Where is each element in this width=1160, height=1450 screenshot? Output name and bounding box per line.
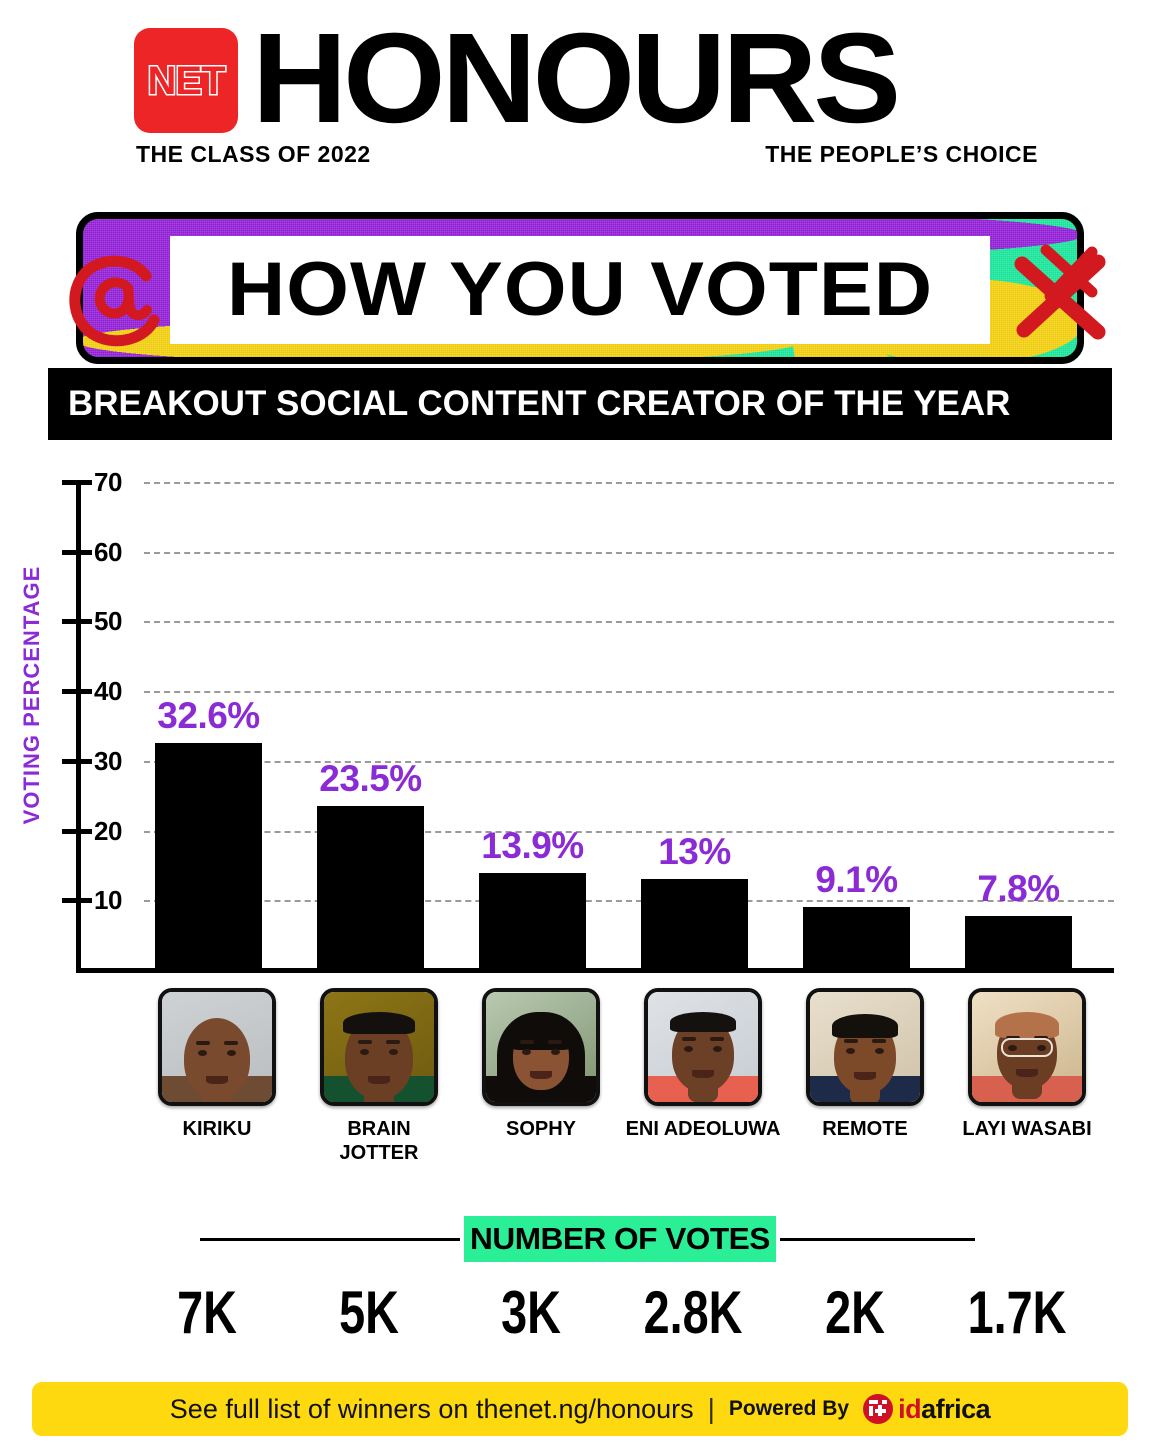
vote-count-remote: 2K [797,1278,914,1347]
masthead: NET HONOURS THE CLASS OF 2022 THE PEOPLE… [0,0,1160,180]
brow-right [224,1041,238,1045]
bar-value-label: 7.8% [977,868,1059,910]
category-bar: BREAKOUT SOCIAL CONTENT CREATOR OF THE Y… [48,368,1112,440]
net-logo-text: NET [148,61,225,101]
brow-left [682,1037,696,1041]
bar-value-label: 23.5% [319,758,421,800]
bar-value-label: 13% [658,831,731,873]
mouth [206,1076,228,1084]
brow-right [548,1040,562,1044]
mouth [530,1071,552,1079]
bar-remote: 9.1% [803,907,910,970]
headline-text: HOW YOU VOTED [227,252,933,328]
footer-separator: | [708,1393,715,1425]
nominee-name: SOPHY [479,1118,603,1142]
vote-count-eni-adeoluwa: 2.8K [635,1278,752,1347]
brow-left [196,1041,210,1045]
bar-chart: VOTING PERCENTAGE 10203040506070 32.6%23… [0,470,1160,990]
nominee-photo [158,988,276,1106]
brow-left [358,1040,372,1044]
vote-count-brain-jotter: 5K [311,1278,428,1347]
nominee-photo [806,988,924,1106]
hair-front [509,1016,573,1050]
bar-brain-jotter: 23.5% [317,806,424,970]
mouth [1016,1069,1038,1077]
brow-right [872,1039,886,1043]
vote-count-kiriku: 7K [149,1278,266,1347]
nominee-remote: REMOTE [803,988,927,1142]
brow-right [710,1037,724,1041]
votes-rule-left [200,1238,460,1241]
net-logo: NET [134,28,238,133]
hair [670,1012,736,1032]
brow-right [386,1040,400,1044]
idafrica-mark-icon [863,1394,893,1424]
idafrica-logo: idafrica [863,1394,990,1425]
nominee-kiriku: KIRIKU [155,988,279,1142]
y-axis-label: VOTING PERCENTAGE [19,515,45,875]
bar-value-label: 13.9% [481,825,583,867]
bar-series: 32.6%23.5%13.9%13%9.1%7.8% [76,482,1114,970]
votes-header: NUMBER OF VOTES [0,1216,1160,1262]
at-sign-doodle-icon [62,246,172,354]
brow-left [520,1040,534,1044]
page-title: HONOURS [252,10,897,148]
footer-bar[interactable]: See full list of winners on thenet.ng/ho… [32,1382,1128,1436]
nominee-brain-jotter: BRAIN JOTTER [317,988,441,1165]
vote-count-sophy: 3K [473,1278,590,1347]
nominee-name: BRAIN JOTTER [284,1118,474,1165]
brow-left [844,1039,858,1043]
mouth [854,1072,876,1080]
nominee-photo [320,988,438,1106]
x-mark-doodle-icon [1006,240,1118,350]
votes-rule-right [780,1238,975,1241]
headline-plate: HOW YOU VOTED [170,236,990,344]
mouth [368,1076,390,1084]
nominee-portraits: KIRIKUBRAIN JOTTERSOPHYENI ADEOLUWAREMOT… [0,988,1160,1188]
bar-layi-wasabi: 7.8% [965,916,1072,970]
vote-count-layi-wasabi: 1.7K [959,1278,1076,1347]
hair [995,1012,1059,1038]
idafrica-id-text: id [898,1394,921,1424]
bar-rect [803,907,910,970]
bar-kiriku: 32.6% [155,743,262,970]
hair [832,1014,898,1038]
hair [343,1012,415,1034]
face [184,1018,250,1099]
bar-eni-adeoluwa: 13% [641,879,748,970]
votes-label-text: NUMBER OF VOTES [470,1221,770,1257]
bar-rect [155,743,262,970]
powered-by-label: Powered By [729,1397,849,1421]
nominee-photo [644,988,762,1106]
nominee-eni-adeoluwa: ENI ADEOLUWA [641,988,765,1142]
footer-link-text[interactable]: See full list of winners on thenet.ng/ho… [170,1394,694,1425]
nominee-layi-wasabi: LAYI WASABI [965,988,1089,1142]
nominee-name: REMOTE [803,1118,927,1142]
bar-rect [641,879,748,970]
nominee-name: ENI ADEOLUWA [608,1118,798,1142]
nominee-photo [968,988,1086,1106]
bar-rect [317,806,424,970]
votes-label-pill: NUMBER OF VOTES [464,1216,776,1262]
idafrica-africa-text: africa [921,1394,990,1424]
vote-count-row: 7K5K3K2.8K2K1.7K [0,1278,1160,1358]
bar-rect [965,916,1072,970]
bar-value-label: 9.1% [815,859,897,901]
nominee-name: KIRIKU [155,1118,279,1142]
nominee-name: LAYI WASABI [932,1118,1122,1142]
idafrica-wordmark: idafrica [898,1394,990,1425]
tagline-left: THE CLASS OF 2022 [136,141,371,168]
bar-rect [479,873,586,970]
glasses-icon [1001,1038,1053,1057]
nominee-photo [482,988,600,1106]
infographic-page: NET HONOURS THE CLASS OF 2022 THE PEOPLE… [0,0,1160,1450]
bar-sophy: 13.9% [479,873,586,970]
tagline-right: THE PEOPLE’S CHOICE [765,141,1038,168]
nominee-sophy: SOPHY [479,988,603,1142]
bar-value-label: 32.6% [157,695,259,737]
mouth [692,1070,714,1078]
category-title: BREAKOUT SOCIAL CONTENT CREATOR OF THE Y… [48,384,1010,424]
